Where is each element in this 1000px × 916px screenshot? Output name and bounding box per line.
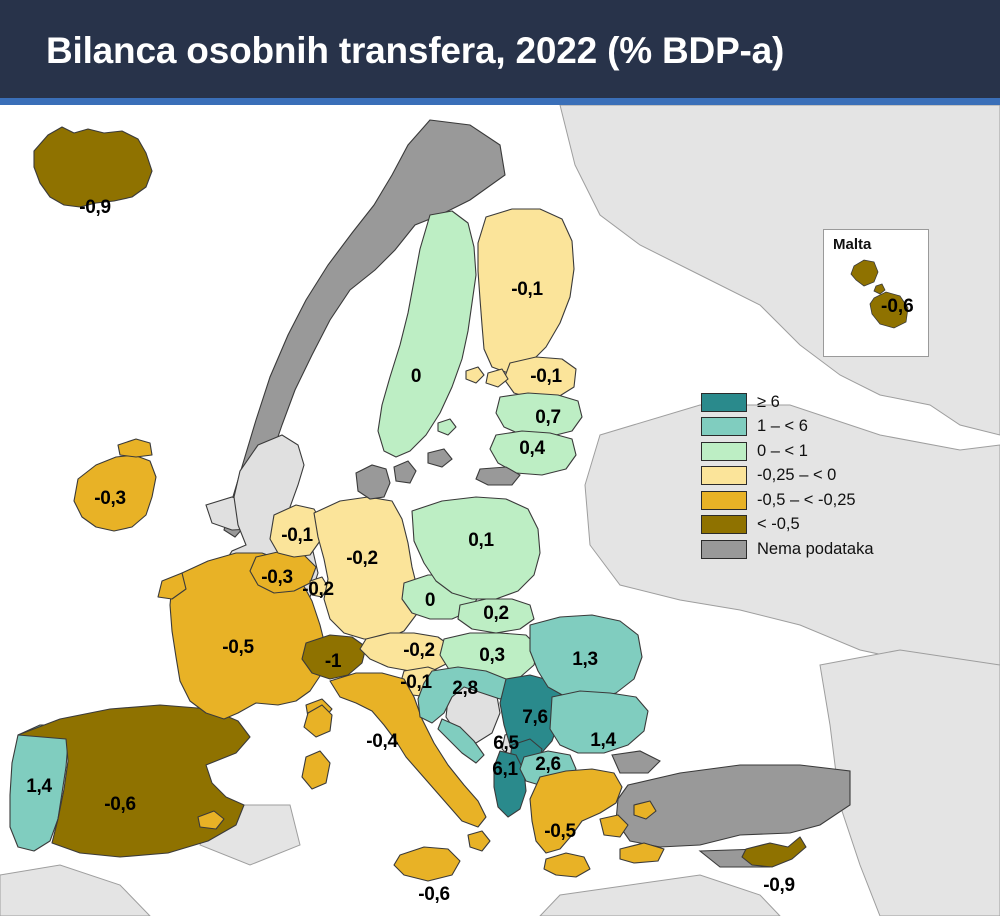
value-label-albania: 6,1 <box>492 759 518 781</box>
value-label-romania: 1,3 <box>572 649 598 671</box>
legend-label-lt-neg05: < -0,5 <box>757 515 800 534</box>
value-label-north-macedonia: 2,6 <box>535 754 561 776</box>
value-label-finland: -0,1 <box>511 279 543 301</box>
value-label-spain: -0,6 <box>104 794 136 816</box>
malta-inset-value: -0,6 <box>881 296 914 318</box>
legend-item-1-to-6[interactable]: 1 – < 6 <box>701 415 874 440</box>
region-cyprus[interactable] <box>742 837 806 867</box>
legend-item-0-to-1[interactable]: 0 – < 1 <box>701 439 874 464</box>
region-iceland[interactable] <box>34 127 152 207</box>
value-label-sweden: 0 <box>411 366 421 388</box>
legend-label-0-to-1: 0 – < 1 <box>757 442 808 461</box>
malta-inset-svg <box>824 230 928 356</box>
legend-label-ge-6: ≥ 6 <box>757 393 780 412</box>
value-label-ireland: -0,3 <box>94 488 126 510</box>
value-label-iceland: -0,9 <box>79 197 111 219</box>
legend-swatch-1-to-6 <box>701 417 747 436</box>
map-infographic: Bilanca osobnih transfera, 2022 (% BDP-a… <box>0 0 1000 916</box>
value-label-luxembourg: -0,2 <box>302 579 334 601</box>
value-label-poland: 0,1 <box>468 530 494 552</box>
legend-swatch-0-to-1 <box>701 442 747 461</box>
legend-item-neg05-to-neg025[interactable]: -0,5 – < -0,25 <box>701 488 874 513</box>
legend-item-lt-neg05[interactable]: < -0,5 <box>701 513 874 538</box>
value-label-malta: -0,6 <box>418 884 450 906</box>
malta-inset-panel[interactable]: Malta -0,6 <box>823 229 929 357</box>
value-label-greece: -0,5 <box>544 821 576 843</box>
header-accent-rule <box>0 98 1000 105</box>
value-label-portugal: 1,4 <box>26 776 52 798</box>
value-label-austria: -0,2 <box>403 640 435 662</box>
value-label-belgium: -0,3 <box>261 567 293 589</box>
value-label-lithuania: 0,4 <box>519 438 545 460</box>
legend-swatch-ge-6 <box>701 393 747 412</box>
legend-label-neg025-to-0: -0,25 – < 0 <box>757 466 836 485</box>
header-bar: Bilanca osobnih transfera, 2022 (% BDP-a… <box>0 0 1000 98</box>
value-label-kosovo: 6,5 <box>493 733 519 755</box>
page-title: Bilanca osobnih transfera, 2022 (% BDP-a… <box>46 30 784 72</box>
value-label-slovenia: -0,1 <box>400 672 432 694</box>
legend-label-neg05-to-neg025: -0,5 – < -0,25 <box>757 491 856 510</box>
map-canvas: .r{stroke:#3a3a3a;stroke-width:1.1;strok… <box>0 105 1000 916</box>
legend-swatch-lt-neg05 <box>701 515 747 534</box>
legend-label-1-to-6: 1 – < 6 <box>757 417 808 436</box>
legend-label-no-data: Nema podataka <box>757 540 874 559</box>
legend-swatch-no-data <box>701 540 747 559</box>
value-label-serbia: 7,6 <box>522 707 548 729</box>
value-label-slovakia: 0,2 <box>483 603 509 625</box>
value-label-croatia: 2,8 <box>452 678 478 700</box>
value-label-italy: -0,4 <box>366 731 398 753</box>
value-label-cyprus: -0,9 <box>763 875 795 897</box>
legend-item-neg025-to-0[interactable]: -0,25 – < 0 <box>701 464 874 489</box>
region-ireland[interactable] <box>74 439 156 531</box>
map-legend: ≥ 6 1 – < 6 0 – < 1 -0,25 – < 0 -0,5 – <… <box>701 390 874 562</box>
value-label-france: -0,5 <box>222 637 254 659</box>
value-label-netherlands: -0,1 <box>281 525 313 547</box>
legend-swatch-neg05-to-neg025 <box>701 491 747 510</box>
value-label-switzerland: -1 <box>325 651 341 673</box>
value-label-germany: -0,2 <box>346 548 378 570</box>
region-denmark[interactable] <box>356 461 416 499</box>
value-label-czechia: 0 <box>425 590 435 612</box>
value-label-estonia: -0,1 <box>530 366 562 388</box>
value-label-latvia: 0,7 <box>535 407 561 429</box>
value-label-hungary: 0,3 <box>479 645 505 667</box>
legend-swatch-neg025-to-0 <box>701 466 747 485</box>
legend-item-no-data[interactable]: Nema podataka <box>701 537 874 562</box>
value-label-bulgaria: 1,4 <box>590 730 616 752</box>
legend-item-ge-6[interactable]: ≥ 6 <box>701 390 874 415</box>
